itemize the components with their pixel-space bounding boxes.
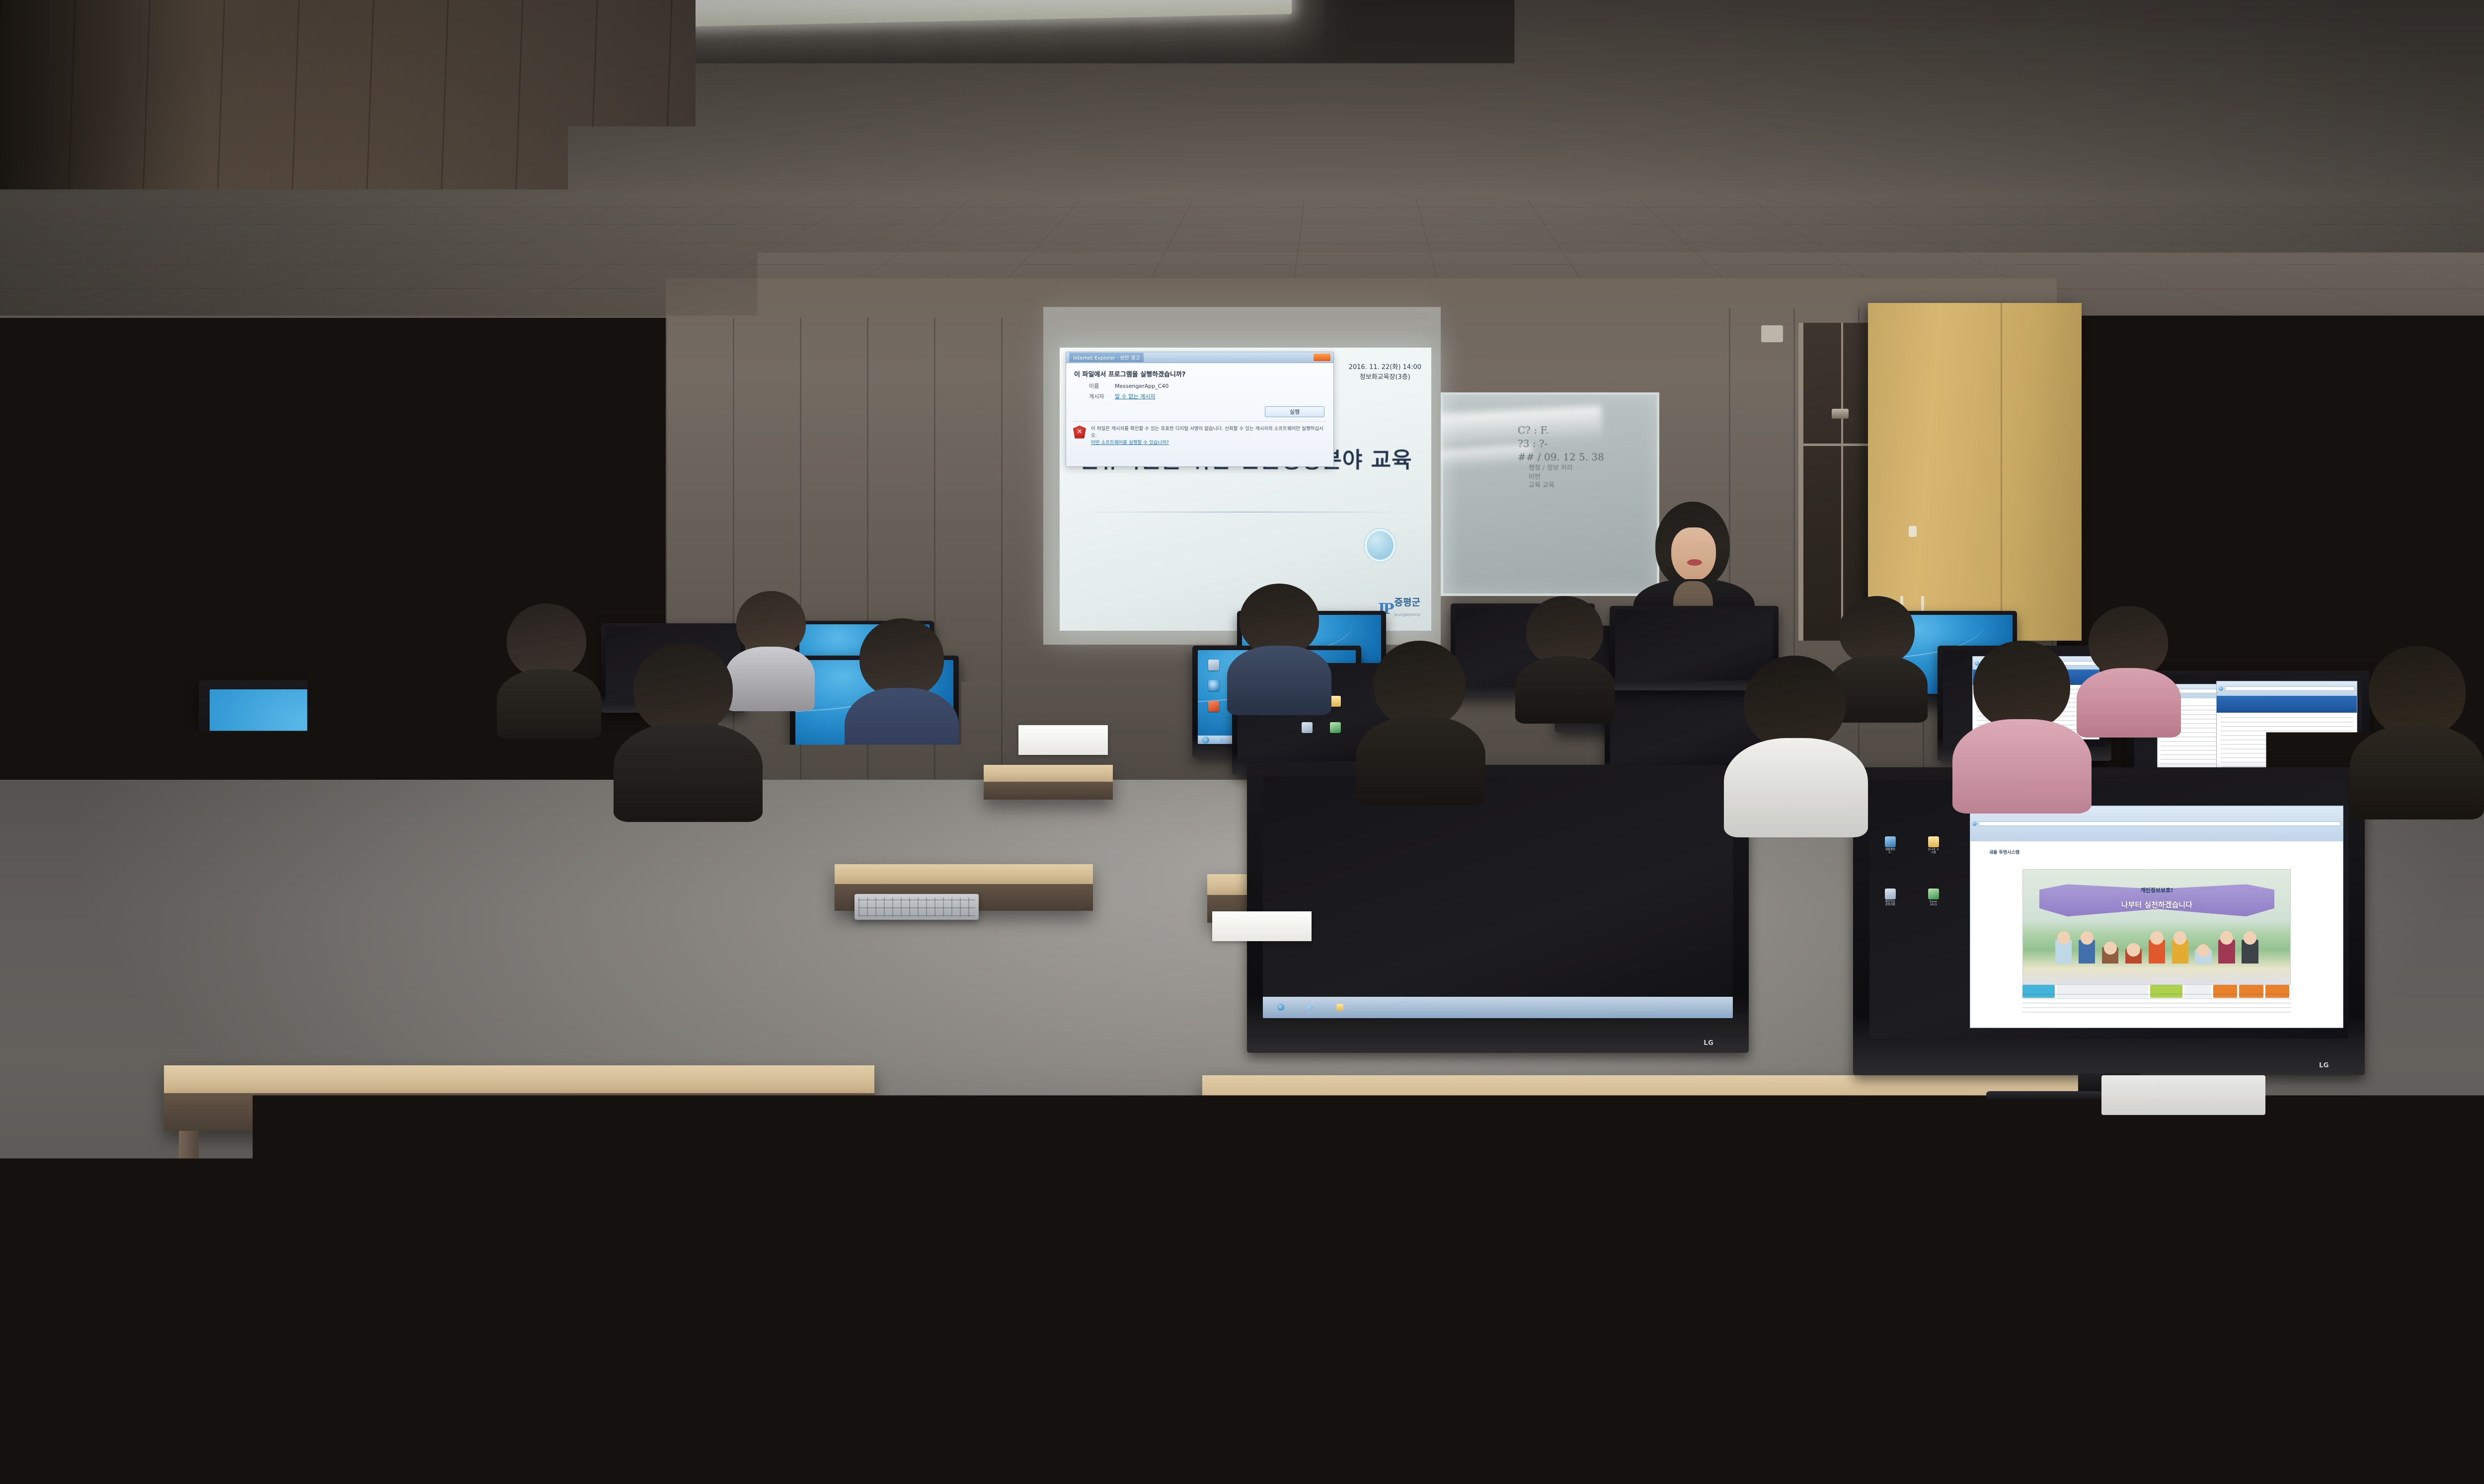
chair-front-center[interactable]: [1292, 1247, 1913, 1484]
figure: [2125, 949, 2142, 964]
attendee: [845, 618, 959, 767]
attendee-hair: [2350, 631, 2484, 949]
whiteboard-line-1: C? : F.: [1518, 424, 1604, 437]
parka-seam: [1584, 883, 1585, 1201]
powerpoint-icon: [1208, 701, 1219, 712]
chair-front-right[interactable]: [2116, 1261, 2484, 1484]
cabinet-side-panel: [853, 415, 891, 643]
desk: [835, 864, 1093, 884]
desktop-icon[interactable]: 온나라: [532, 882, 545, 897]
attendee-checkered-shirt: [0, 983, 358, 1484]
warning-text: 이 파일은 게시자를 확인할 수 있는 유효한 디지털 서명이 없습니다. 신뢰…: [1091, 426, 1326, 440]
figure: [2195, 949, 2212, 964]
dialog-titlebar: Internet Explorer - 보안 경고: [1066, 352, 1333, 363]
attendee-head: [1240, 584, 1319, 656]
ie-icon[interactable]: [1202, 737, 1209, 743]
slide-divider: [1080, 512, 1411, 513]
ie-icon: [1208, 680, 1219, 691]
onnara-icon: [533, 882, 544, 893]
whiteboard-line-4: 행정 / 정보 처리: [1518, 464, 1604, 473]
right-storage-cabinet[interactable]: [1868, 303, 2082, 641]
desktop-icon[interactable]: [1207, 660, 1220, 671]
dialog-title: Internet Explorer - 보안 경고: [1069, 353, 1144, 362]
door-mullion: [1841, 323, 1843, 641]
paper-stack: [1018, 725, 1108, 755]
monitor-stand-neck: [511, 1073, 572, 1092]
attendee-head: [1973, 641, 2070, 730]
attendee-head: [633, 643, 733, 735]
parka-hood: [1351, 875, 1828, 1010]
attendee-front-right: [2236, 631, 2484, 1351]
ie-icon[interactable]: [800, 746, 807, 753]
attendee-head: [859, 618, 944, 698]
desktop-icon[interactable]: 인터넷: [323, 842, 336, 857]
instructor-face: [1671, 527, 1716, 581]
run-button[interactable]: 실행: [1265, 406, 1324, 417]
attendee-torso: [497, 669, 601, 739]
desktop-icon[interactable]: 공동이용: [579, 882, 592, 897]
pc-icon: [1208, 660, 1219, 670]
cabinet-handle[interactable]: [878, 592, 882, 614]
desk: [984, 765, 1113, 782]
attendee-head: [507, 603, 586, 678]
powerpoint-icon: [324, 890, 335, 901]
close-icon[interactable]: [1314, 354, 1330, 361]
attendee-torso: [614, 723, 763, 822]
field-name-value: MessengerApp_C40: [1115, 383, 1168, 389]
documents-icon: [485, 930, 496, 941]
ie-icon: [324, 842, 335, 853]
chair[interactable]: [934, 944, 999, 1093]
desktop-icon[interactable]: 한글: [579, 930, 592, 945]
wall-speaker: [1761, 325, 1783, 342]
ie-security-dialog[interactable]: Internet Explorer - 보안 경고 이 파일에서 프로그램을 실…: [1066, 352, 1334, 467]
share-icon: [580, 882, 591, 893]
paper-handout: [536, 1222, 796, 1296]
explorer-icon[interactable]: [349, 1022, 356, 1029]
figure: [2102, 947, 2119, 964]
attendee-torso: [845, 688, 959, 772]
projector-vent: [1307, 199, 1349, 240]
chair-caster: [879, 1361, 939, 1420]
chair-adjuster[interactable]: [1590, 1225, 1664, 1253]
projector-cable: [1228, 189, 1298, 251]
chair-armrest[interactable]: [2106, 1253, 2484, 1265]
whiteboard: C? : F. ?3 : ?- ## / 09. 12 5. 38 행정 / 정…: [1441, 392, 1659, 596]
figure: [2172, 940, 2189, 964]
desktop-icon[interactable]: 내문서함: [484, 930, 497, 945]
excel-icon: [1928, 889, 1939, 899]
desktop-icon[interactable]: Excel 2013: [1927, 889, 1940, 906]
ie-icon: [1972, 821, 1977, 826]
attendee: [2077, 606, 2181, 730]
desktop-icon[interactable]: 온나라 시스템: [1927, 836, 1940, 854]
hangul-icon: [580, 930, 591, 941]
whiteboard-line-6: 교육 교육: [1518, 481, 1604, 490]
attendee: [497, 603, 601, 733]
whiteboard-line-5: 비번: [1518, 473, 1604, 482]
attendee-pink-knit: [1952, 719, 2092, 814]
explorer-icon[interactable]: [815, 746, 822, 753]
slide-meta: 2016. 11. 22(화) 14:00 정보화교육장(3층): [1349, 363, 1421, 382]
field-publisher-label: 게시자: [1089, 392, 1115, 402]
figure: [2149, 940, 2166, 964]
poster-figures: [2055, 929, 2258, 964]
field-name-label: 이름: [1089, 381, 1115, 392]
attendee-ear: [92, 882, 152, 968]
explorer-icon[interactable]: [1217, 737, 1224, 743]
warning-link[interactable]: 어떤 소프트웨어를 실행할 수 있습니까?: [1091, 440, 1326, 446]
attendee-ear: [1421, 705, 1451, 760]
dialog-warning: 이 파일은 게시자를 확인할 수 있는 유효한 디지털 서명이 없습니다. 신뢰…: [1066, 424, 1333, 451]
slide-date: 2016. 11. 22(화) 14:00: [1349, 363, 1421, 372]
slide-decorative-circle: [1365, 529, 1396, 562]
chair-post: [1885, 1266, 1898, 1396]
gov-app-icon: [485, 882, 496, 893]
cabinet-door-seam: [2001, 303, 2002, 641]
figure: [2079, 940, 2096, 964]
attendee-head: [1526, 596, 1603, 667]
dialog-fields: 이름MessengerApp_C40 게시자알 수 없는 게시자: [1066, 379, 1333, 402]
chair-caster: [1182, 1406, 1237, 1460]
orange-backpack: [268, 1413, 427, 1484]
slide-venue: 정보화교육장(3층): [1349, 372, 1421, 382]
folder-icon[interactable]: [379, 1022, 386, 1029]
excel-icon: [533, 930, 544, 941]
desktop-icon[interactable]: Excel: [532, 930, 545, 945]
whiteboard-line-3: ## / 09. 12 5. 38: [1518, 450, 1604, 464]
dialog-button-row: 실행: [1066, 402, 1333, 419]
chair[interactable]: [775, 1003, 874, 1192]
instructor-mouth: [1687, 559, 1702, 566]
attendee: [614, 643, 763, 812]
dialog-separator: [1073, 421, 1326, 422]
desktop-icon[interactable]: 내 컴퓨터: [323, 794, 336, 809]
pc-icon: [324, 794, 335, 805]
desktop-icon[interactable]: PowerPoint: [323, 890, 336, 905]
chair-post: [1302, 1266, 1315, 1396]
whiteboard-line-2: ?3 : ?-: [1518, 437, 1604, 450]
keyboard[interactable]: [854, 894, 979, 920]
field-publisher-value[interactable]: 알 수 없는 게시자: [1115, 393, 1155, 400]
desk-leg: [1212, 1145, 1232, 1393]
attendee-front-left: [0, 693, 323, 1484]
cabinet-lock-icon[interactable]: [1909, 526, 1917, 537]
onnara-icon: [1928, 836, 1939, 847]
jp-logo-roman: Jeungpyeong: [1395, 612, 1420, 617]
ie-icon: [2219, 686, 2223, 691]
monitor-brand-logo: LG: [750, 1061, 760, 1069]
attendee-olive-parka: [1292, 859, 1888, 1257]
figure: [2055, 940, 2072, 964]
mouse[interactable]: [718, 1162, 773, 1201]
site-logo: 새울 투명시스템: [1989, 849, 2019, 855]
messenger-icon[interactable]: [408, 1022, 415, 1029]
desktop-icon[interactable]: 새올행정: [484, 882, 497, 897]
door-handle[interactable]: [1832, 409, 1849, 419]
dialog-question: 이 파일에서 프로그램을 실행하겠습니까?: [1066, 363, 1333, 379]
projector-lens: [1219, 238, 1234, 249]
whiteboard-writing: C? : F. ?3 : ?- ## / 09. 12 5. 38 행정 / 정…: [1518, 424, 1604, 490]
desktop-icon[interactable]: [1207, 680, 1220, 692]
attendee-head: [2089, 606, 2168, 678]
desk-apron: [984, 782, 1113, 800]
attendee: [1952, 641, 2092, 805]
attendee-front-center: [1272, 661, 1928, 1257]
desktop-icon[interactable]: [1207, 701, 1220, 713]
chair-post: [2131, 1281, 2143, 1401]
classroom-photo: C? : F. ?3 : ?- ## / 09. 12 5. 38 행정 / 정…: [0, 0, 2484, 1484]
attendee-head: [1839, 596, 1915, 666]
projector-icon: [1207, 191, 1356, 252]
jp-logo-name: 증평군: [1395, 597, 1420, 608]
attendee-torso: [2077, 668, 2181, 738]
warning-shield-icon: [1073, 426, 1086, 439]
figure: [2218, 940, 2235, 964]
